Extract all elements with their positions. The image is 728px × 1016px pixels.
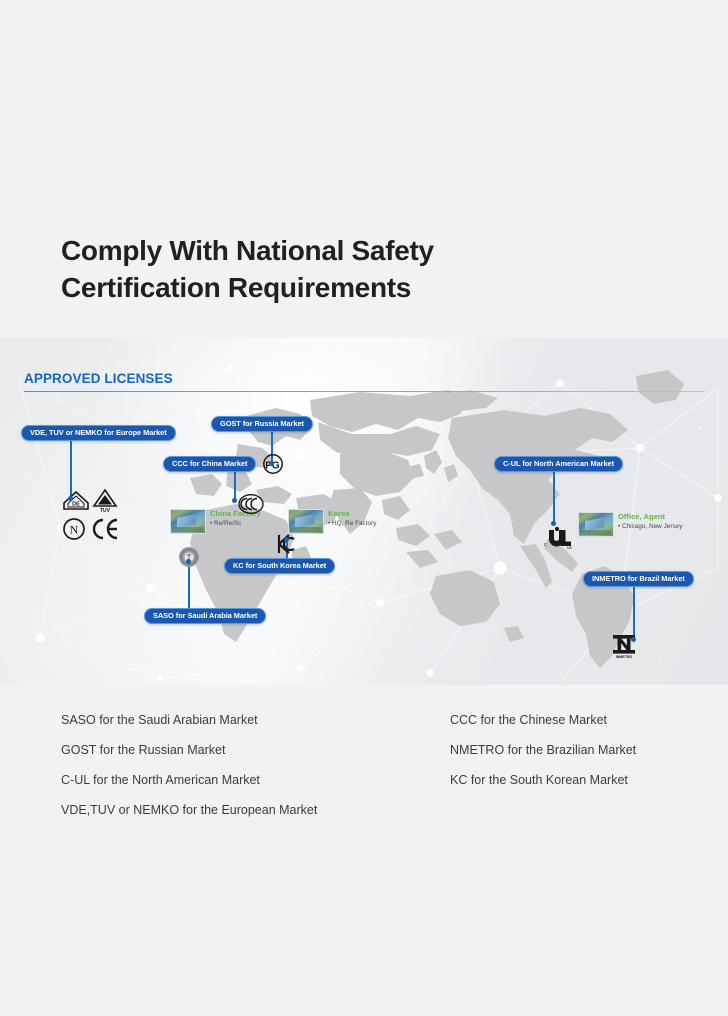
page-title-line-2: Certification Requirements — [61, 270, 621, 307]
vde-mark-icon: DE — [62, 490, 90, 512]
leader-line-north-america — [553, 471, 555, 523]
office-agent-name: Office, Agent — [618, 513, 682, 521]
pill-south-korea[interactable]: KC for South Korea Market — [224, 558, 335, 574]
china-factory-detail: • Re/Re/Sc — [210, 520, 261, 528]
svg-text:TUV: TUV — [100, 508, 111, 514]
list-item: NMETRO for the Brazilian Market — [450, 735, 681, 765]
leader-dot-south-korea — [284, 537, 289, 542]
svg-text:c: c — [544, 542, 547, 548]
leader-line-saudi-arabia — [188, 562, 190, 609]
license-list-right-column: CCC for the Chinese Market NMETRO for th… — [450, 705, 681, 825]
korea-factory-photo — [288, 509, 324, 534]
facility-korea: Korea • HQ, Re Factory — [288, 509, 376, 534]
approved-licenses-header: APPROVED LICENSES — [24, 371, 173, 386]
pill-europe[interactable]: VDE, TUV or NEMKO for Europe Market — [21, 425, 176, 441]
list-item: KC for the South Korean Market — [450, 765, 681, 795]
svg-text:INMETRO: INMETRO — [616, 655, 633, 659]
facility-office-agent: Office, Agent • Chicago, New Jersey — [578, 512, 682, 537]
pill-china[interactable]: CCC for China Market — [163, 456, 256, 472]
pill-saudi-arabia[interactable]: SASO for Saudi Arabia Market — [144, 608, 266, 624]
pill-north-america[interactable]: C-UL for North American Market — [494, 456, 623, 472]
leader-dot-china — [232, 498, 237, 503]
leader-dot-russia — [269, 461, 274, 466]
license-list-left-column: SASO for the Saudi Arabian Market GOST f… — [61, 705, 450, 825]
korea-name: Korea — [328, 510, 376, 518]
list-item: SASO for the Saudi Arabian Market — [61, 705, 450, 735]
page-title: Comply With National Safety Certificatio… — [61, 233, 621, 307]
ul-mark-icon: c us — [540, 526, 574, 550]
list-item: GOST for the Russian Market — [61, 735, 450, 765]
korea-detail: • HQ, Re Factory — [328, 520, 376, 528]
page-title-line-1: Comply With National Safety — [61, 233, 621, 270]
leader-dot-north-america — [551, 521, 556, 526]
office-agent-detail: • Chicago, New Jersey — [618, 523, 682, 531]
leader-line-china — [234, 471, 236, 500]
china-factory-photo — [170, 509, 206, 534]
saso-mark-icon — [178, 546, 200, 568]
svg-text:us: us — [567, 545, 573, 550]
pill-brazil[interactable]: INMETRO for Brazil Market — [583, 571, 694, 587]
approved-licenses-title: APPROVED LICENSES — [24, 371, 173, 386]
list-item: CCC for the Chinese Market — [450, 705, 681, 735]
leader-line-brazil — [633, 586, 635, 639]
leader-dot-europe — [68, 496, 73, 501]
tuv-mark-icon: TUV — [92, 488, 118, 514]
pill-russia[interactable]: GOST for Russia Market — [211, 416, 313, 432]
svg-text:N: N — [70, 523, 79, 537]
list-item: VDE,TUV or NEMKO for the European Market — [61, 795, 450, 825]
nemko-mark-icon: N — [62, 517, 86, 541]
leader-dot-brazil — [631, 637, 636, 642]
leader-dot-saudi-arabia — [186, 559, 191, 564]
list-item: C-UL for the North American Market — [61, 765, 450, 795]
section-divider — [24, 391, 705, 392]
license-list: SASO for the Saudi Arabian Market GOST f… — [61, 705, 681, 825]
ccc-mark-icon — [238, 493, 264, 515]
svg-text:DE: DE — [72, 502, 80, 508]
office-agent-photo — [578, 512, 614, 537]
ce-mark-icon — [90, 518, 120, 540]
